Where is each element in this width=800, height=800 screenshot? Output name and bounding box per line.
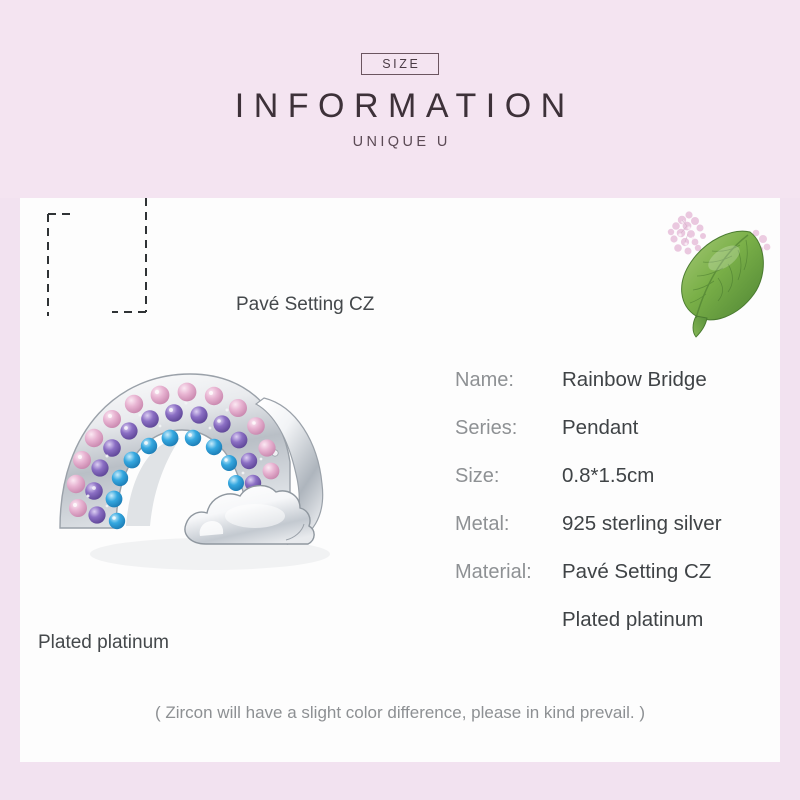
spec-value: Rainbow Bridge	[562, 366, 707, 394]
spec-label: Metal:	[455, 510, 509, 538]
spec-label: Material:	[455, 558, 532, 586]
spec-label: Series:	[455, 414, 517, 442]
product-spec-list: Name: Rainbow Bridge Series: Pendant Siz…	[455, 366, 765, 654]
callout-label-plated: Plated platinum	[38, 632, 169, 654]
spec-value: Pavé Setting CZ	[562, 558, 711, 586]
product-image-rainbow-bridge	[50, 358, 380, 598]
callout-leader-plated	[104, 198, 174, 318]
spec-value: Pendant	[562, 414, 638, 442]
page-subtitle: UNIQUE U	[0, 132, 800, 152]
spec-row-size: Size: 0.8*1.5cm	[455, 462, 765, 510]
blossom-cluster-right	[745, 230, 770, 255]
spec-row-material-continued: Plated platinum	[455, 606, 765, 654]
spec-value: 0.8*1.5cm	[562, 462, 654, 490]
blossom-cluster-left	[668, 211, 706, 254]
spec-value: 925 sterling silver	[562, 510, 722, 538]
disclaimer-note: ( Zircon will have a slight color differ…	[20, 703, 780, 723]
spec-label: Size:	[455, 462, 499, 490]
leaf-tip	[693, 316, 707, 337]
leaf-and-blossom-icon	[662, 198, 780, 338]
spec-value-continued: Plated platinum	[562, 606, 703, 634]
size-badge-label: SIZE	[380, 57, 421, 71]
page-title: INFORMATION	[0, 86, 800, 126]
callout-label-pave: Pavé Setting CZ	[236, 294, 374, 316]
leaf-main	[682, 231, 764, 320]
spec-label: Name:	[455, 366, 514, 394]
information-card: Pavé Setting CZ Plated platinum Name: Ra…	[20, 198, 780, 762]
spec-row-metal: Metal: 925 sterling silver	[455, 510, 765, 558]
spec-row-series: Series: Pendant	[455, 414, 765, 462]
spec-row-material: Material: Pavé Setting CZ	[455, 558, 765, 606]
size-badge: SIZE	[361, 53, 439, 75]
callout-leader-pave	[20, 208, 100, 318]
header-banner: SIZE INFORMATION UNIQUE U	[0, 0, 800, 198]
spec-row-name: Name: Rainbow Bridge	[455, 366, 765, 414]
